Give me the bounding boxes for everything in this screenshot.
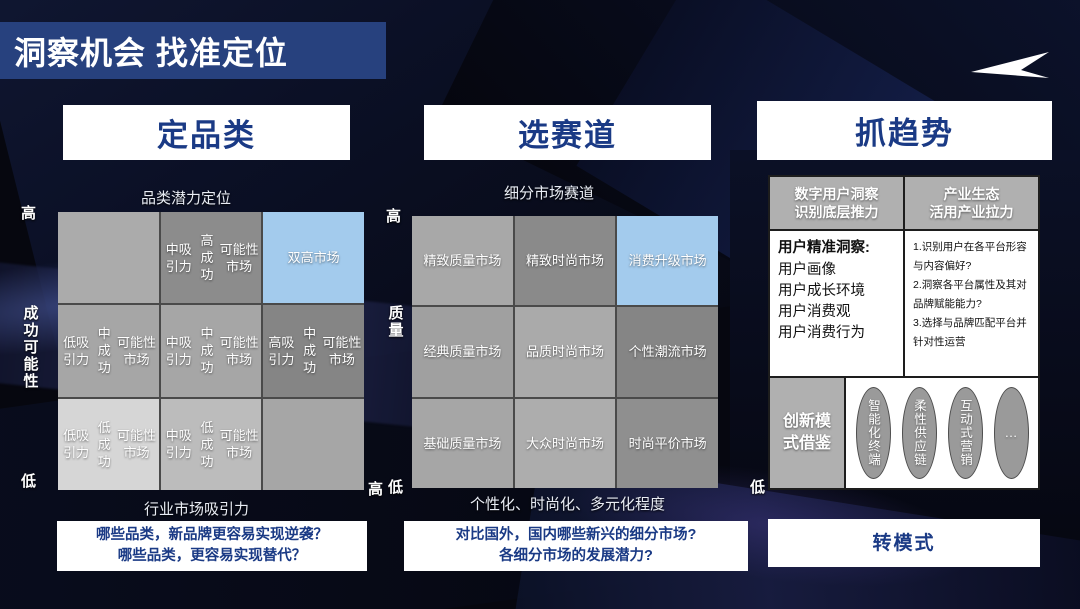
matrix-cell-line: 消费升级市场 bbox=[629, 252, 707, 269]
matrix-cell-line: 经典质量市场 bbox=[423, 343, 501, 360]
matrix-cell-line: 中成功 bbox=[195, 325, 219, 376]
matrix1-x-high: 高 bbox=[368, 478, 383, 499]
page-title: 洞察机会 找准定位 bbox=[0, 28, 288, 74]
caption-line: 转模式 bbox=[872, 533, 935, 554]
section-header-choose-track[interactable]: 选赛道 bbox=[424, 105, 711, 160]
user-insight-item: 用户消费行为 bbox=[778, 323, 895, 344]
matrix-cell-line: 可能性市场 bbox=[116, 334, 156, 368]
matrix2-x-low: 低 bbox=[750, 476, 765, 497]
matrix-cell-line: 品质时尚市场 bbox=[526, 343, 604, 360]
matrix-cell-line: 双高市场 bbox=[288, 249, 340, 266]
matrix1-y-label: 成功可能性 bbox=[23, 305, 39, 390]
matrix-cell bbox=[58, 212, 159, 303]
caption-line: 哪些品类，新品牌更容易实现逆袭？ bbox=[96, 525, 328, 546]
caption-line: 哪些品类，更容易实现替代？ bbox=[118, 546, 307, 567]
matrix-cell-line: 可能性市场 bbox=[219, 241, 259, 275]
matrix-cell-line: 大众时尚市场 bbox=[526, 435, 604, 452]
matrix-cell-line: 基础质量市场 bbox=[423, 435, 501, 452]
matrix-cell-line: 个性潮流市场 bbox=[629, 343, 707, 360]
caption-choose-track: 对比国外，国内哪些新兴的细分市场? 各细分市场的发展潜力? bbox=[404, 521, 748, 571]
matrix2-y-high: 高 bbox=[386, 205, 401, 226]
user-insight-item: 用户成长环境 bbox=[778, 281, 895, 302]
section-header-label: 定品类 bbox=[157, 110, 256, 155]
matrix-cell-line: 低成功 bbox=[92, 419, 116, 470]
matrix-cell-line: 中吸引力 bbox=[163, 334, 195, 368]
matrix2-x-label: 个性化、时尚化、多元化程度 bbox=[470, 493, 665, 514]
innovation-oval: 柔性供应链 bbox=[902, 387, 937, 479]
slide-root: 洞察机会 找准定位 定品类 选赛道 抓趋势 品类潜力定位 高 成功可能性 低 高… bbox=[0, 0, 1080, 609]
trend-panel-body: 用户精准洞察: 用户画像用户成长环境用户消费观用户消费行为 1.识别用户在各平台… bbox=[770, 231, 1038, 376]
matrix-cell-line: 高成功 bbox=[195, 232, 219, 283]
matrix-cell-line: 精致质量市场 bbox=[423, 252, 501, 269]
trend-header-digital-user-insight: 数字用户洞察 识别底层推力 bbox=[770, 177, 903, 229]
section-header-catch-trend[interactable]: 抓趋势 bbox=[757, 101, 1052, 160]
caption-define-category: 哪些品类，新品牌更容易实现逆袭？ 哪些品类，更容易实现替代？ bbox=[57, 521, 367, 571]
matrix1-y-low: 低 bbox=[21, 470, 36, 491]
matrix1-grid: 中吸引力高成功可能性市场双高市场低吸引力中成功可能性市场中吸引力中成功可能性市场… bbox=[58, 212, 364, 490]
matrix-cell: 中吸引力中成功可能性市场 bbox=[161, 305, 262, 396]
matrix-cell-line: 中成功 bbox=[298, 325, 322, 376]
user-insight-item: 用户画像 bbox=[778, 260, 895, 281]
matrix-cell-line: 中成功 bbox=[92, 325, 116, 376]
innovation-oval: … bbox=[994, 387, 1029, 479]
ecosystem-item: 1.识别用户在各平台形容与内容偏好? bbox=[913, 238, 1030, 276]
matrix-cell: 品质时尚市场 bbox=[515, 307, 616, 396]
caption-line: 各细分市场的发展潜力? bbox=[499, 546, 653, 567]
matrix-cell-line: 精致时尚市场 bbox=[526, 252, 604, 269]
matrix-cell: 低吸引力中成功可能性市场 bbox=[58, 305, 159, 396]
user-insight-title: 用户精准洞察: bbox=[778, 238, 895, 259]
section-header-label: 抓趋势 bbox=[855, 108, 954, 153]
matrix-cell: 双高市场 bbox=[263, 212, 364, 303]
ecosystem-list: 1.识别用户在各平台形容与内容偏好?2.洞察各平台属性及其对品牌赋能能力?3.选… bbox=[913, 238, 1030, 352]
matrix-cell-line: 可能性市场 bbox=[322, 334, 362, 368]
trend-panel: 数字用户洞察 识别底层推力 产业生态 活用产业拉力 用户精准洞察: 用户画像用户… bbox=[768, 175, 1040, 490]
matrix-cell-line: 高吸引力 bbox=[265, 334, 297, 368]
user-insight-box: 用户精准洞察: 用户画像用户成长环境用户消费观用户消费行为 bbox=[770, 231, 903, 376]
matrix-cell-line: 低吸引力 bbox=[60, 427, 92, 461]
matrix2-grid: 精致质量市场精致时尚市场消费升级市场经典质量市场品质时尚市场个性潮流市场基础质量… bbox=[412, 216, 718, 488]
slide-title-banner: 洞察机会 找准定位 bbox=[0, 22, 386, 79]
matrix-cell: 精致质量市场 bbox=[412, 216, 513, 305]
section-header-define-category[interactable]: 定品类 bbox=[63, 105, 350, 160]
matrix-cell: 中吸引力高成功可能性市场 bbox=[161, 212, 262, 303]
matrix2-y-low: 低 bbox=[388, 476, 403, 497]
innovation-oval: 互动式营销 bbox=[948, 387, 983, 479]
user-insight-list: 用户画像用户成长环境用户消费观用户消费行为 bbox=[778, 260, 895, 344]
matrix-cell-line: 可能性市场 bbox=[116, 427, 156, 461]
matrix1-y-high: 高 bbox=[21, 202, 36, 223]
matrix-cell: 中吸引力低成功可能性市场 bbox=[161, 399, 262, 490]
matrix1-title: 品类潜力定位 bbox=[141, 187, 231, 208]
matrix-cell: 个性潮流市场 bbox=[617, 307, 718, 396]
matrix-cell-line: 低成功 bbox=[195, 419, 219, 470]
innovation-oval: 智能化终端 bbox=[856, 387, 891, 479]
matrix-cell: 消费升级市场 bbox=[617, 216, 718, 305]
trend-header-industry-ecosystem: 产业生态 活用产业拉力 bbox=[905, 177, 1038, 229]
matrix-cell-line: 中吸引力 bbox=[163, 427, 195, 461]
ecosystem-box: 1.识别用户在各平台形容与内容偏好?2.洞察各平台属性及其对品牌赋能能力?3.选… bbox=[905, 231, 1038, 376]
trend-panel-headers: 数字用户洞察 识别底层推力 产业生态 活用产业拉力 bbox=[770, 177, 1038, 229]
caption-change-model: 转模式 bbox=[768, 519, 1040, 567]
matrix-cell: 大众时尚市场 bbox=[515, 399, 616, 488]
matrix-cell: 精致时尚市场 bbox=[515, 216, 616, 305]
ecosystem-item: 3.选择与品牌匹配平台并针对性运营 bbox=[913, 314, 1030, 352]
matrix1-x-label: 行业市场吸引力 bbox=[144, 498, 249, 519]
matrix-cell-line: 低吸引力 bbox=[60, 334, 92, 368]
matrix-cell: 高吸引力中成功可能性市场 bbox=[263, 305, 364, 396]
matrix-cell-line: 可能性市场 bbox=[219, 427, 259, 461]
trend-panel-innovation: 创新模 式借鉴 智能化终端柔性供应链互动式营销… bbox=[770, 378, 1038, 488]
matrix-cell-line: 时尚平价市场 bbox=[629, 435, 707, 452]
matrix-cell: 时尚平价市场 bbox=[617, 399, 718, 488]
matrix-cell bbox=[263, 399, 364, 490]
matrix2-title: 细分市场赛道 bbox=[504, 182, 594, 203]
matrix-cell: 经典质量市场 bbox=[412, 307, 513, 396]
ecosystem-item: 2.洞察各平台属性及其对品牌赋能能力? bbox=[913, 276, 1030, 314]
section-header-label: 选赛道 bbox=[518, 110, 617, 155]
matrix-cell: 低吸引力低成功可能性市场 bbox=[58, 399, 159, 490]
innovation-oval-group: 智能化终端柔性供应链互动式营销… bbox=[846, 378, 1038, 488]
arrow-left-icon bbox=[965, 48, 1051, 94]
matrix-cell-line: 可能性市场 bbox=[219, 334, 259, 368]
innovation-model-label: 创新模 式借鉴 bbox=[770, 378, 844, 488]
user-insight-item: 用户消费观 bbox=[778, 302, 895, 323]
caption-line: 对比国外，国内哪些新兴的细分市场? bbox=[456, 525, 697, 546]
matrix-cell: 基础质量市场 bbox=[412, 399, 513, 488]
matrix-cell-line: 中吸引力 bbox=[163, 241, 195, 275]
matrix2-y-label: 质量 bbox=[388, 305, 404, 339]
